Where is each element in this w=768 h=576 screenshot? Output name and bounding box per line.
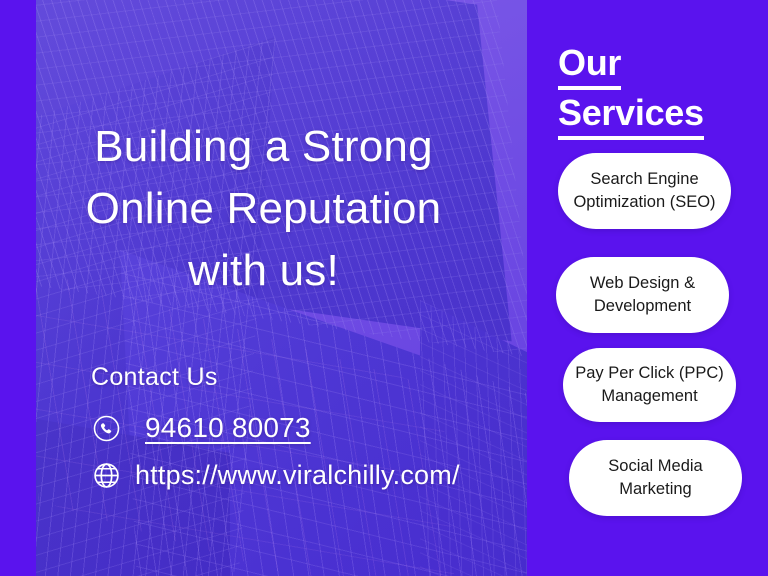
headline-line-1: Building a Strong [0, 116, 527, 178]
service-pill-ppc-line-2: Management [601, 387, 697, 405]
contact-title: Contact Us [91, 363, 460, 392]
service-pill-social-media[interactable]: Social Media Marketing [569, 440, 742, 516]
contact-block: Contact Us 94610 80073 [91, 363, 460, 491]
headline: Building a Strong Online Reputation with… [0, 116, 527, 302]
service-pill-ppc[interactable]: Pay Per Click (PPC) Management [563, 348, 736, 422]
background-photo-panel: Building a Strong Online Reputation with… [0, 0, 527, 576]
headline-line-3: with us! [0, 240, 527, 302]
services-heading-line-2: Services [558, 90, 704, 140]
promotional-poster: Building a Strong Online Reputation with… [0, 0, 768, 576]
contact-website-url[interactable]: https://www.viralchilly.com/ [135, 460, 460, 491]
service-pill-web-design-line-2: Development [594, 297, 691, 315]
service-pill-web-design-line-1: Web Design & [590, 274, 695, 292]
phone-circle-icon [91, 413, 121, 443]
service-pill-web-design[interactable]: Web Design & Development [556, 257, 729, 333]
service-pill-seo-line-2: Optimization (SEO) [573, 193, 715, 211]
contact-website-row[interactable]: https://www.viralchilly.com/ [91, 460, 460, 491]
service-pill-ppc-line-1: Pay Per Click (PPC) [575, 364, 724, 382]
service-pill-seo-line-1: Search Engine [590, 170, 698, 188]
services-panel: Our Services Search Engine Optimization … [527, 0, 768, 576]
headline-line-2: Online Reputation [0, 178, 527, 240]
globe-icon [91, 461, 121, 491]
services-heading: Our Services [558, 40, 758, 140]
service-pill-social-media-line-1: Social Media [608, 457, 702, 475]
service-pill-seo[interactable]: Search Engine Optimization (SEO) [558, 153, 731, 229]
contact-phone-number[interactable]: 94610 80073 [145, 412, 311, 444]
services-heading-line-1: Our [558, 40, 621, 90]
service-pill-social-media-line-2: Marketing [619, 480, 691, 498]
contact-phone-row[interactable]: 94610 80073 [91, 412, 460, 444]
